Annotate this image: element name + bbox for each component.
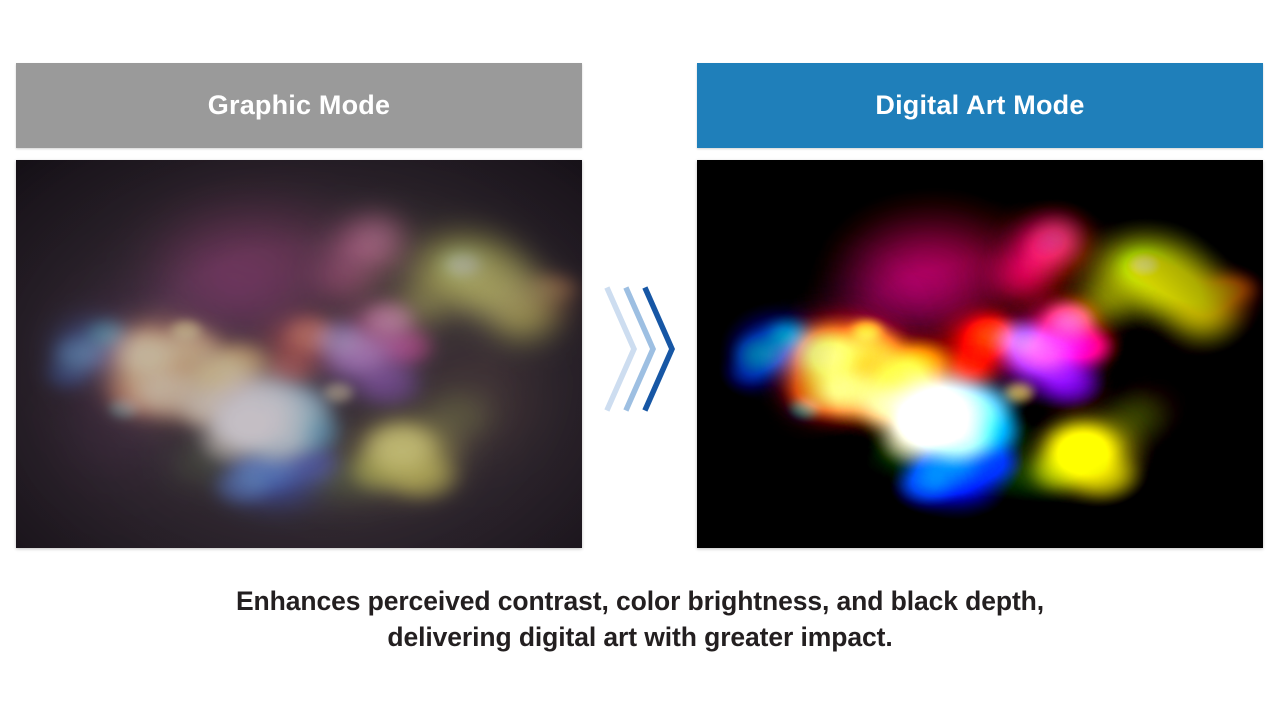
digital-art-mode-artwork-image — [697, 160, 1263, 548]
slide-canvas: Graphic Mode Digital Art Mode — [0, 0, 1280, 720]
artwork-color-field — [1093, 385, 1184, 447]
artwork-color-field — [104, 395, 144, 422]
graphic-mode-label: Graphic Mode — [208, 92, 390, 119]
artwork-color-field — [980, 451, 1071, 505]
comparison-panel-graphic-mode: Graphic Mode — [16, 63, 582, 548]
digital-art-mode-label: Digital Art Mode — [875, 92, 1084, 119]
artwork-color-field — [163, 437, 242, 487]
artwork-color-field — [785, 395, 825, 422]
artwork-color-field — [720, 354, 777, 393]
graphic-mode-artwork-image — [16, 160, 582, 548]
artwork-color-field — [1054, 323, 1122, 370]
artwork-color-field — [166, 317, 206, 344]
artwork-color-field — [523, 271, 582, 306]
artwork-color-field — [39, 354, 96, 393]
artwork-color-field — [847, 317, 887, 344]
artwork-color-field — [81, 317, 132, 352]
artwork-color-field — [986, 249, 1065, 303]
digital-art-mode-header: Digital Art Mode — [697, 63, 1263, 148]
feature-caption-line-2: delivering digital art with greater impa… — [0, 619, 1280, 655]
artwork-color-field — [373, 323, 441, 370]
triple-chevron-right-icon — [604, 286, 676, 412]
artwork-color-field — [412, 385, 503, 447]
artwork-color-field — [305, 249, 384, 303]
comparison-panel-digital-art-mode: Digital Art Mode — [697, 63, 1263, 548]
feature-caption: Enhances perceived contrast, color brigh… — [0, 583, 1280, 655]
digital-art-mode-artwork-frame — [697, 160, 1263, 548]
artwork-color-field — [762, 317, 813, 352]
feature-caption-line-1: Enhances perceived contrast, color brigh… — [0, 583, 1280, 619]
graphic-mode-artwork-frame — [16, 160, 582, 548]
graphic-mode-header: Graphic Mode — [16, 63, 582, 148]
artwork-color-field — [844, 437, 923, 487]
artwork-color-field — [1204, 271, 1263, 306]
artwork-color-field — [299, 451, 390, 505]
